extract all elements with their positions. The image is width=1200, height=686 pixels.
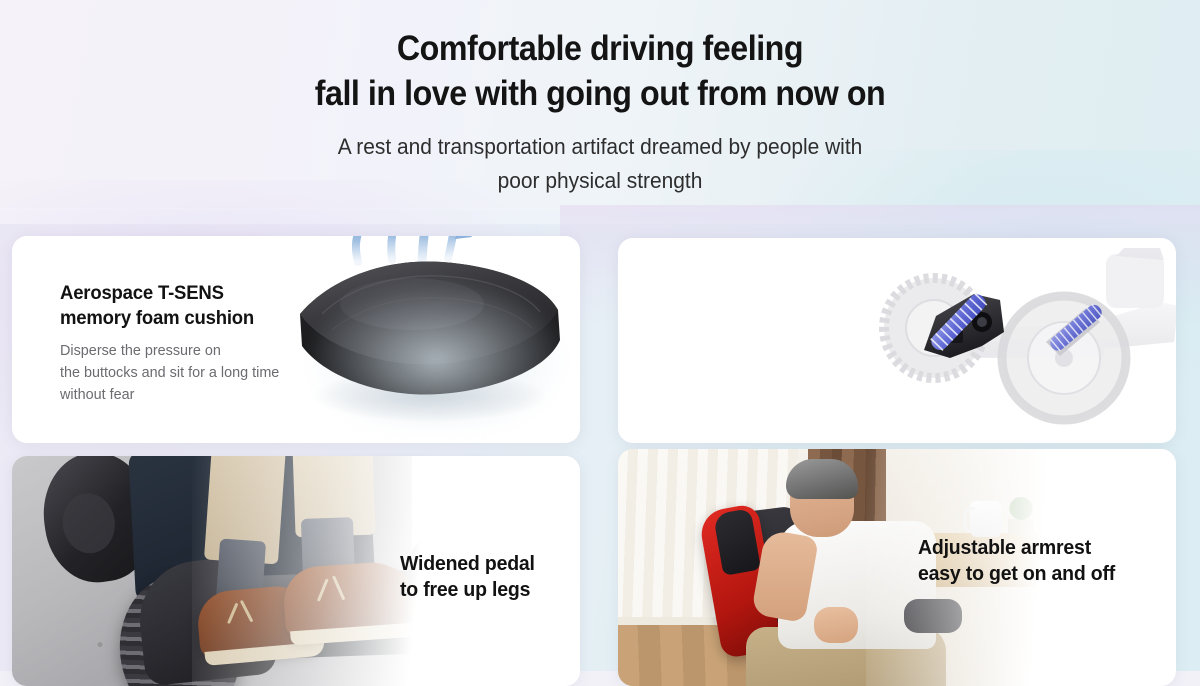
cushion-card-text: Aerospace T-SENS memory foam cushion Dis… [60,281,288,406]
person-hair [786,459,858,499]
pedal-card-text: Widened pedal to free up legs [400,551,542,603]
pedal-heading-line-2: to free up legs [400,577,535,603]
page-title-line-2: fall in love with going out from now on [48,71,1152,116]
feature-card-pedal[interactable]: Widened pedal to free up legs [12,456,580,686]
armrest-card-text: Adjustable armrest easy to get on and of… [918,535,1125,587]
armrest-heading-line-1: Adjustable armrest [918,535,1115,561]
cushion-body: Disperse the pressure on the buttocks an… [60,340,279,406]
cushion-illustration [262,236,580,443]
ghost-wheel-rear [1002,296,1126,420]
page-title: Comfortable driving feeling fall in love… [48,0,1152,116]
cushion-heading-line-2: memory foam cushion [60,306,277,331]
cushion-heading-line-1: Aerospace T-SENS [60,281,277,306]
hero-section: Comfortable driving feeling fall in love… [0,0,1200,215]
cushion-body-line-3: without fear [60,384,279,406]
airflow-arrows [354,236,472,262]
suspension-illustration [878,246,1176,436]
cushion-glow [302,278,572,428]
armrest-heading-line-2: easy to get on and off [918,561,1115,587]
page-title-line-1: Comfortable driving feeling [48,26,1152,71]
page-subtitle-line-2: poor physical strength [42,164,1158,198]
feature-card-cushion[interactable]: Aerospace T-SENS memory foam cushion Dis… [12,236,580,443]
page-subtitle-line-1: A rest and transportation artifact dream… [42,130,1158,164]
pedal-heading: Widened pedal to free up legs [400,551,535,603]
suspension-svg [878,246,1176,436]
feature-card-suspension[interactable]: Suspension shock absorption system Front… [618,238,1176,443]
armrest-heading: Adjustable armrest easy to get on and of… [918,535,1115,587]
cushion-heading: Aerospace T-SENS memory foam cushion [60,281,277,331]
cushion-body-line-2: the buttocks and sit for a long time [60,362,279,384]
pedal-heading-line-1: Widened pedal [400,551,535,577]
feature-card-armrest[interactable]: Adjustable armrest easy to get on and of… [618,449,1176,686]
page-subtitle: A rest and transportation artifact dream… [42,116,1158,198]
person-hand [814,607,858,643]
cushion-body-line-1: Disperse the pressure on [60,340,279,362]
